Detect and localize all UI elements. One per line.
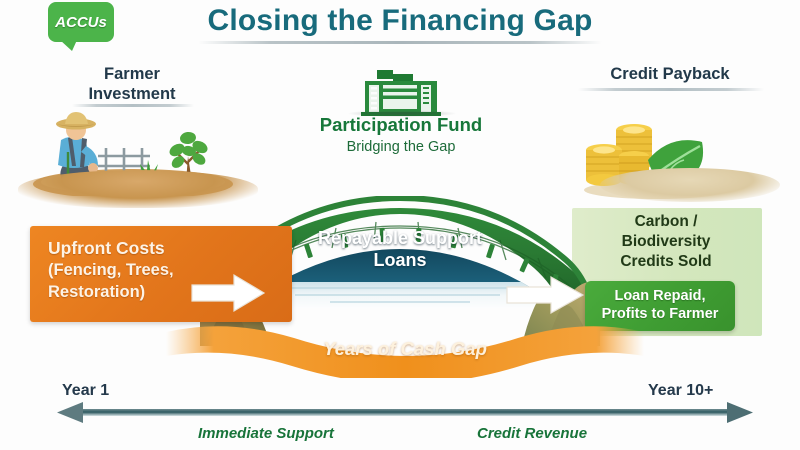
infographic-canvas: Closing the Financing Gap Farmer Investm… <box>0 0 800 450</box>
timeline-end-label: Year 10+ <box>648 382 713 400</box>
arch-text-line-1: Repayable Support <box>280 228 520 250</box>
page-title: Closing the Financing Gap <box>0 4 800 38</box>
timeline-double-arrow-icon <box>55 400 755 426</box>
title-underline-rule <box>198 41 602 44</box>
participation-fund-subtitle: Bridging the Gap <box>270 139 532 155</box>
credits-line-2: Biodiversity <box>578 232 754 252</box>
timeline-phase-credit-revenue: Credit Revenue <box>477 425 587 442</box>
participation-fund-title: Participation Fund <box>270 114 532 136</box>
years-of-cash-gap-label: Years of Cash Gap <box>160 338 650 360</box>
bank-building-icon <box>355 68 447 116</box>
credits-sold-label: Carbon / Biodiversity Credits Sold <box>578 212 754 271</box>
loan-line-1: Loan Repaid, <box>602 288 719 306</box>
upfront-line-1: Upfront Costs <box>48 237 276 260</box>
timeline-start-label: Year 1 <box>62 382 109 400</box>
heading-line-1: Farmer <box>38 64 226 84</box>
ground-right <box>600 168 780 202</box>
arrow-bridge-to-loan-repaid <box>505 274 587 316</box>
column-heading-farmer-investment: Farmer Investment <box>38 64 226 104</box>
heading-rule-right <box>578 88 764 91</box>
column-heading-credit-payback: Credit Payback <box>570 64 770 84</box>
credits-line-1: Carbon / <box>578 212 754 232</box>
credits-line-3: Credits Sold <box>578 252 754 272</box>
repayable-support-loans-label: Repayable Support Loans <box>280 228 520 272</box>
accus-badge: ACCUs <box>48 2 114 42</box>
arrow-upfront-to-bridge <box>190 272 268 314</box>
heading-line-2: Investment <box>38 84 226 104</box>
arch-text-line-2: Loans <box>280 250 520 272</box>
timeline-phase-immediate-support: Immediate Support <box>198 425 334 442</box>
